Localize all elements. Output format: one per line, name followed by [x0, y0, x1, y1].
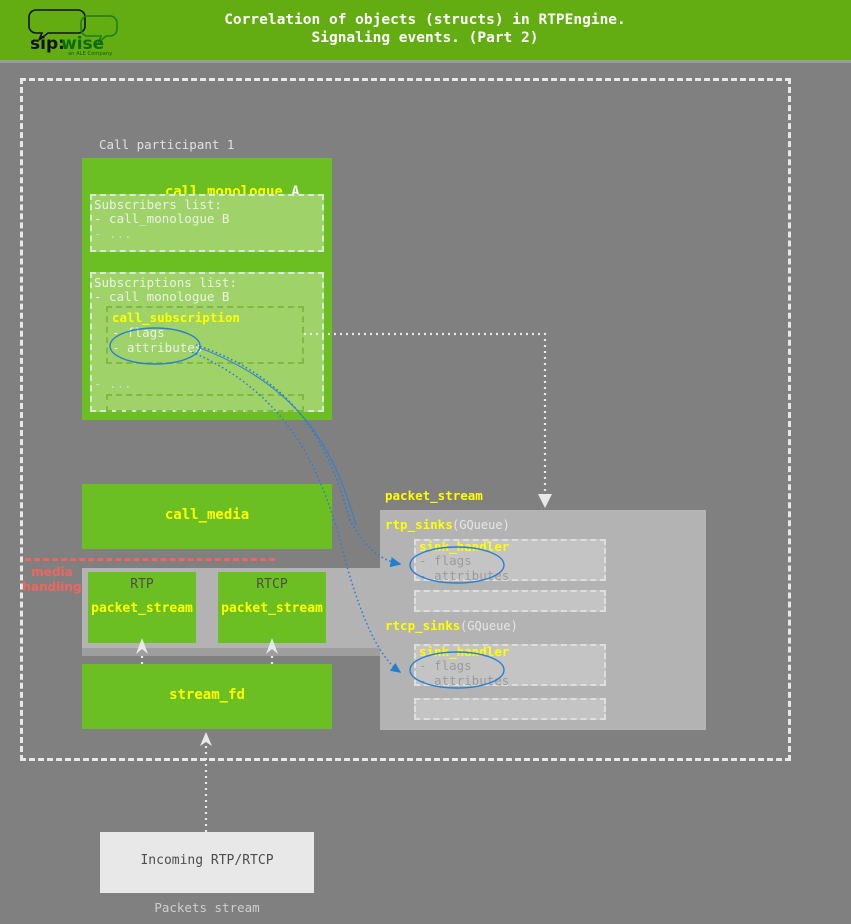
- rtcp-packet-stream-box: RTCP packet_stream: [218, 572, 326, 643]
- rtcp-sink-empty-slot: [414, 698, 606, 720]
- rtp-sinks-type: (GQueue): [452, 518, 510, 532]
- rtcp-sink-handler-attributes: - attributes: [419, 674, 509, 689]
- call-media-box: call_media: [82, 484, 332, 549]
- call-subscription-field-attributes: - attributes: [112, 341, 202, 356]
- rtp-sinks-label: rtp_sinks: [385, 517, 453, 532]
- rtp-packet-stream-title: packet_stream: [88, 601, 196, 616]
- sipwise-logo: sip: wise an ALE Company: [28, 4, 132, 56]
- call-subscription-field-flags: - flags: [112, 326, 165, 341]
- subscriptions-more: - ...: [94, 377, 132, 392]
- media-handling-label: media handling: [21, 565, 83, 595]
- rtcp-kind-label: RTCP: [218, 577, 326, 592]
- rtcp-sink-handler-flags: - flags: [419, 659, 472, 674]
- incoming-packets-label: Incoming RTP/RTCP: [100, 853, 314, 868]
- packet-stream-panel-label: packet_stream: [385, 488, 483, 503]
- page-title: Correlation of objects (structs) in RTPE…: [160, 11, 690, 47]
- stream-fd-box: stream_fd: [82, 664, 332, 729]
- svg-text:an ALE Company: an ALE Company: [68, 51, 112, 56]
- rtp-sink-handler-flags: - flags: [419, 554, 472, 569]
- media-handling-divider: [25, 558, 275, 561]
- page-header: sip: wise an ALE Company Correlation of …: [0, 0, 851, 60]
- stream-fd-title: stream_fd: [82, 687, 332, 703]
- svg-text:sip:: sip:: [30, 34, 65, 54]
- call-monologue-box: call_monologue A Subscribers list: - cal…: [82, 158, 332, 420]
- media-handling-baseline: [82, 648, 380, 656]
- incoming-packets-box: Incoming RTP/RTCP: [100, 832, 314, 893]
- packets-stream-caption: Packets stream: [100, 900, 314, 915]
- rtp-kind-label: RTP: [88, 577, 196, 592]
- header-divider: [0, 60, 851, 63]
- subscribers-item-0: - call_monologue B: [94, 212, 229, 227]
- subscribers-item-1: - ...: [94, 227, 132, 242]
- rtp-sink-handler-attributes: - attributes: [419, 569, 509, 584]
- rtcp-sinks-type: (GQueue): [460, 619, 518, 633]
- rtp-packet-stream-box: RTP packet_stream: [88, 572, 196, 643]
- diagram-page: sip: wise an ALE Company Correlation of …: [0, 0, 851, 924]
- rtcp-packet-stream-title: packet_stream: [218, 601, 326, 616]
- call-media-title: call_media: [82, 507, 332, 523]
- rtp-sink-empty-slot: [414, 590, 606, 612]
- call-subscription-empty-slot: [106, 394, 304, 412]
- call-subscription-title: call_subscription: [112, 311, 240, 326]
- subscriptions-item: - call monologue B: [94, 290, 229, 305]
- rtcp-sinks-label: rtcp_sinks: [385, 618, 460, 633]
- call-participant-label: Call participant 1: [99, 137, 234, 152]
